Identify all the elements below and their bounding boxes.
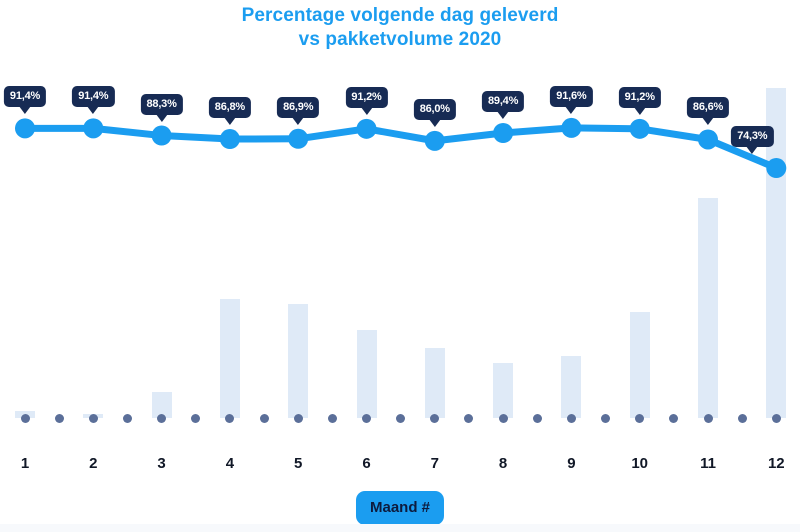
data-label-month-7: 86,0% (414, 99, 456, 120)
data-label-month-6: 91,2% (345, 87, 387, 108)
data-point-month-8[interactable] (493, 123, 513, 143)
x-tick-11: 11 (700, 455, 716, 472)
data-label-month-10: 91,2% (619, 87, 661, 108)
x-tick-4: 4 (226, 455, 234, 472)
data-label-month-9: 91,6% (550, 86, 592, 107)
data-label-month-2: 91,4% (72, 86, 114, 107)
data-point-month-6[interactable] (357, 119, 377, 139)
data-point-month-11[interactable] (698, 129, 718, 149)
data-point-month-9[interactable] (561, 118, 581, 138)
x-tick-2: 2 (89, 455, 97, 472)
x-tick-12: 12 (768, 455, 785, 472)
data-point-month-3[interactable] (152, 126, 172, 146)
plot-area: 91,4%91,4%88,3%86,8%86,9%91,2%86,0%89,4%… (0, 0, 800, 450)
x-tick-8: 8 (499, 455, 507, 472)
data-label-month-12: 74,3% (731, 126, 773, 147)
data-point-month-5[interactable] (288, 129, 308, 149)
line-series (0, 0, 800, 450)
x-tick-1: 1 (21, 455, 29, 472)
data-point-month-7[interactable] (425, 131, 445, 151)
data-label-month-1: 91,4% (4, 86, 46, 107)
x-tick-9: 9 (567, 455, 575, 472)
data-point-month-12[interactable] (766, 158, 786, 178)
data-label-month-3: 88,3% (140, 94, 182, 115)
data-point-month-10[interactable] (630, 119, 650, 139)
x-axis-title-badge: Maand # (356, 491, 444, 525)
line-path (25, 128, 776, 168)
data-point-month-4[interactable] (220, 129, 240, 149)
data-point-month-1[interactable] (15, 118, 35, 138)
data-label-month-8: 89,4% (482, 91, 524, 112)
data-point-month-2[interactable] (83, 118, 103, 138)
marker-group (15, 118, 786, 178)
chart-container: Percentage volgende dag geleverd vs pakk… (0, 0, 800, 532)
x-tick-10: 10 (631, 455, 648, 472)
data-label-month-4: 86,8% (209, 97, 251, 118)
data-label-month-5: 86,9% (277, 97, 319, 118)
footer-strip (0, 524, 800, 532)
x-tick-5: 5 (294, 455, 302, 472)
x-tick-3: 3 (157, 455, 165, 472)
data-label-month-11: 86,6% (687, 97, 729, 118)
x-tick-7: 7 (431, 455, 439, 472)
x-tick-6: 6 (362, 455, 370, 472)
